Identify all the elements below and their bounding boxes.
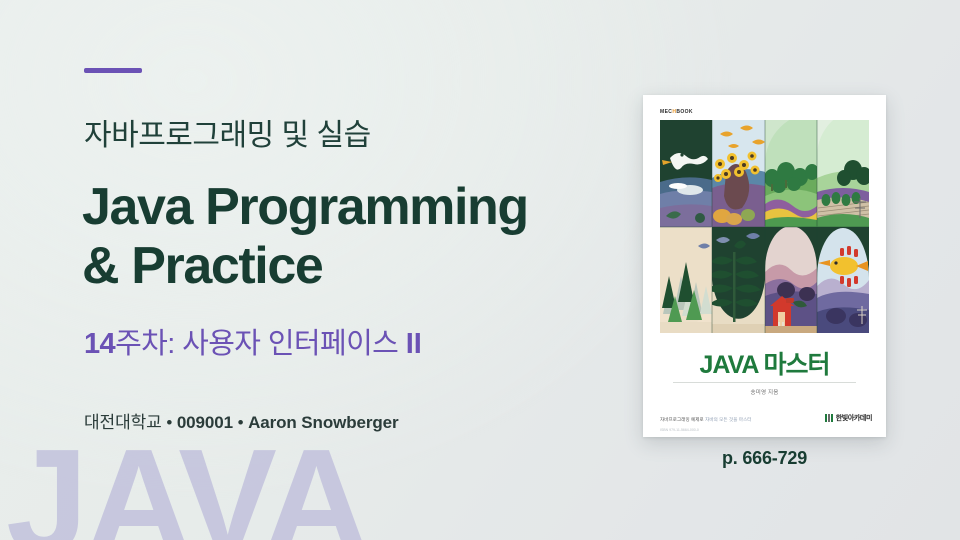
cover-illustration-art	[660, 120, 869, 333]
tagline-part1: 자바프로그래밍 예제로	[660, 417, 704, 422]
publisher-logo: 한빛아카데미	[825, 413, 872, 423]
slide-text-column: 자바프로그래밍 및 실습 Java Programming & Practice…	[84, 0, 644, 540]
meta-separator-1: •	[162, 413, 177, 432]
book-front: MECHBOOK	[643, 95, 886, 437]
week-topic: 주차: 사용자 인터페이스	[115, 328, 406, 360]
book-cover-author: 송미영 지음	[643, 388, 886, 396]
publisher-logo-bars	[825, 414, 833, 422]
meta-separator-2: •	[233, 413, 248, 432]
book-cover-divider	[673, 382, 856, 383]
meta-university: 대전대학교	[84, 413, 162, 432]
page-reference: p. 666-729	[643, 448, 886, 469]
publisher-name: 한빛아카데미	[836, 413, 872, 423]
meta-instructor: Aaron Snowberger	[248, 413, 398, 432]
imprint-left: MEC	[660, 109, 672, 115]
week-topic-numeral: II	[406, 328, 422, 360]
week-subtitle: 14주차: 사용자 인터페이스 II	[84, 320, 422, 362]
meta-course-code: 009001	[177, 413, 233, 432]
page-title-line2: & Practice	[82, 237, 528, 296]
book-cover-tagline: 자바프로그래밍 예제로 자바의 모든 것을 마스터	[660, 417, 752, 423]
page-title-line1: Java Programming	[82, 178, 528, 236]
book-cover-title: JAVA 마스터	[643, 345, 886, 381]
page-title: Java Programming & Practice	[82, 178, 528, 296]
book-isbn: ISBN 979-11-5664-000-0	[660, 428, 699, 432]
cover-illustration	[660, 120, 869, 333]
accent-dash	[84, 68, 142, 73]
week-number: 14	[84, 328, 115, 360]
publisher-imprint-mark: MECHBOOK	[660, 109, 693, 115]
course-name-korean: 자바프로그래밍 및 실습	[84, 110, 371, 154]
textbook-cover: MECHBOOK	[643, 95, 886, 437]
imprint-right: BOOK	[676, 109, 693, 115]
slide-metadata: 대전대학교 • 009001 • Aaron Snowberger	[84, 408, 399, 433]
tagline-part2: 자바의 모든 것을 마스터	[704, 417, 752, 422]
